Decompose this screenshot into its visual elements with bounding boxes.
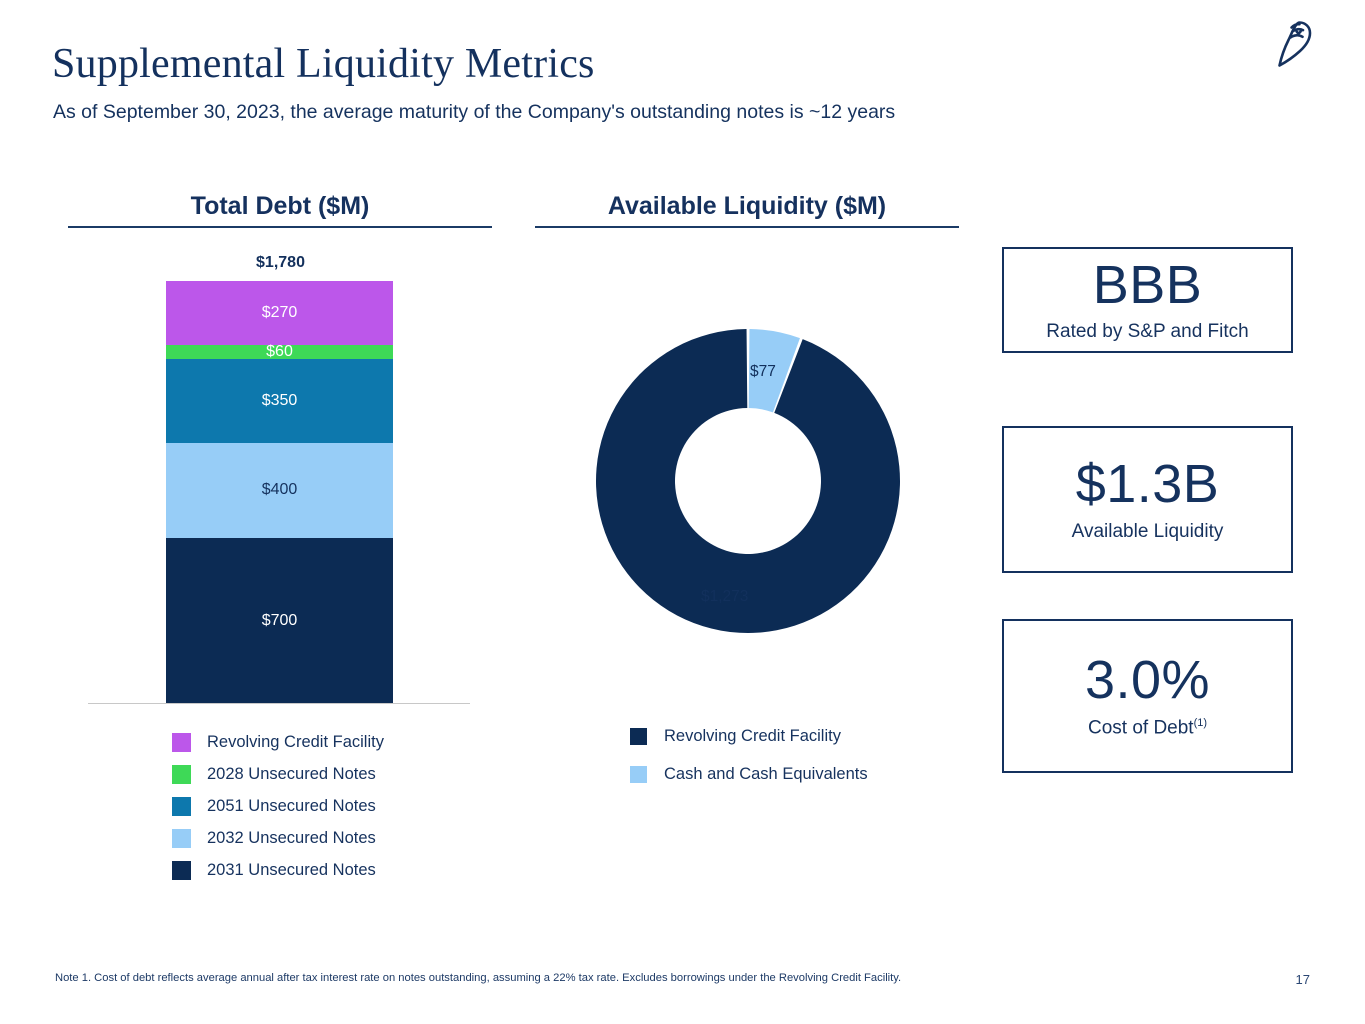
bar-segment-label: $60 <box>266 343 293 361</box>
bar-segment-label: $350 <box>262 392 298 410</box>
legend-item-label: 2051 Unsecured Notes <box>207 797 376 816</box>
legend-item-label: 2031 Unsecured Notes <box>207 861 376 880</box>
bar-chart-title: Total Debt ($M) <box>68 192 492 221</box>
bar-stack: $270$60$350$400$700 <box>166 281 393 704</box>
donut-title-rule <box>535 226 959 228</box>
donut-legend-item: Revolving Credit Facility <box>630 727 868 746</box>
bar-legend-item: 2031 Unsecured Notes <box>172 861 384 880</box>
owl-logo-icon <box>1269 18 1317 70</box>
metric-box-liquidity: $1.3B Available Liquidity <box>1002 426 1293 573</box>
metric-value-liquidity: $1.3B <box>1076 456 1220 513</box>
metric-caption-cost-of-debt: Cost of Debt(1) <box>1088 717 1207 739</box>
donut-slice-label-cash: $77 <box>750 363 776 381</box>
metric-caption-rating: Rated by S&P and Fitch <box>1046 321 1248 343</box>
bar-chart-legend: Revolving Credit Facility2028 Unsecured … <box>172 733 384 893</box>
bar-segment-3: $400 <box>166 443 393 538</box>
bar-segment-label: $270 <box>262 304 298 322</box>
bar-total-label: $1,780 <box>168 254 393 272</box>
bar-legend-item: 2028 Unsecured Notes <box>172 765 384 784</box>
bar-segment-2: $350 <box>166 359 393 442</box>
donut-legend-item: Cash and Cash Equivalents <box>630 765 868 784</box>
bar-legend-item: 2032 Unsecured Notes <box>172 829 384 848</box>
legend-swatch-icon <box>172 861 191 880</box>
page-number: 17 <box>1296 972 1310 987</box>
donut-chart-legend: Revolving Credit FacilityCash and Cash E… <box>630 727 868 803</box>
bar-title-rule <box>68 226 492 228</box>
bar-segment-label: $700 <box>262 612 298 630</box>
legend-item-label: 2032 Unsecured Notes <box>207 829 376 848</box>
total-debt-bar-chart: $1,780 $270$60$350$400$700 <box>68 240 488 720</box>
legend-item-label: Revolving Credit Facility <box>664 727 841 746</box>
bar-segment-0: $270 <box>166 281 393 345</box>
bar-legend-item: Revolving Credit Facility <box>172 733 384 752</box>
metric-value-rating: BBB <box>1093 257 1203 314</box>
footnote-marker: (1) <box>1194 717 1207 729</box>
legend-swatch-icon <box>172 829 191 848</box>
metric-caption-cost-of-debt-text: Cost of Debt <box>1088 718 1194 739</box>
page-subtitle: As of September 30, 2023, the average ma… <box>53 101 895 124</box>
metric-value-cost-of-debt: 3.0% <box>1085 652 1210 709</box>
legend-item-label: Cash and Cash Equivalents <box>664 765 868 784</box>
metric-box-rating: BBB Rated by S&P and Fitch <box>1002 247 1293 353</box>
bar-segment-label: $400 <box>262 481 298 499</box>
legend-swatch-icon <box>630 728 647 745</box>
footnote-text: Note 1. Cost of debt reflects average an… <box>55 972 901 984</box>
metric-box-cost-of-debt: 3.0% Cost of Debt(1) <box>1002 619 1293 773</box>
legend-swatch-icon <box>630 766 647 783</box>
donut-chart-title: Available Liquidity ($M) <box>535 192 959 221</box>
metric-caption-liquidity: Available Liquidity <box>1072 521 1224 543</box>
legend-swatch-icon <box>172 797 191 816</box>
page-title: Supplemental Liquidity Metrics <box>52 40 595 88</box>
legend-item-label: 2028 Unsecured Notes <box>207 765 376 784</box>
bar-legend-item: 2051 Unsecured Notes <box>172 797 384 816</box>
legend-swatch-icon <box>172 733 191 752</box>
bar-segment-4: $700 <box>166 538 393 704</box>
legend-swatch-icon <box>172 765 191 784</box>
bar-segment-1: $60 <box>166 345 393 359</box>
donut-slice-label-rcf: $1,273 <box>701 588 748 606</box>
bar-baseline <box>88 703 470 704</box>
legend-item-label: Revolving Credit Facility <box>207 733 384 752</box>
